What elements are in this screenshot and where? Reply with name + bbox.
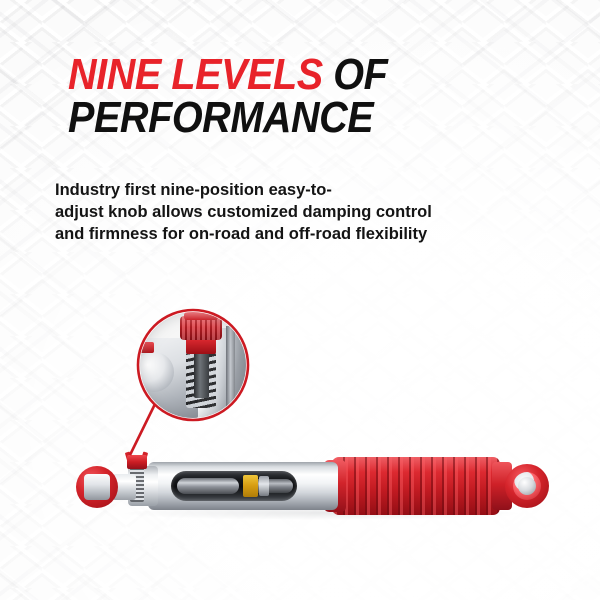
piston-ring: [259, 476, 269, 496]
cutaway-window: [171, 471, 297, 501]
left-eyelet-sleeve: [84, 474, 110, 500]
right-eyelet-sleeve: [518, 477, 536, 495]
right-eyelet-bushing: [505, 464, 549, 508]
shock-absorber-illustration: [0, 0, 600, 600]
piston-rod: [177, 478, 239, 494]
poster-canvas: NINE LEVELS OF PERFORMANCE Industry firs…: [0, 0, 600, 600]
red-bellows-boot: [332, 457, 500, 515]
piston-band: [243, 475, 258, 497]
adjuster-knob: [127, 455, 147, 469]
